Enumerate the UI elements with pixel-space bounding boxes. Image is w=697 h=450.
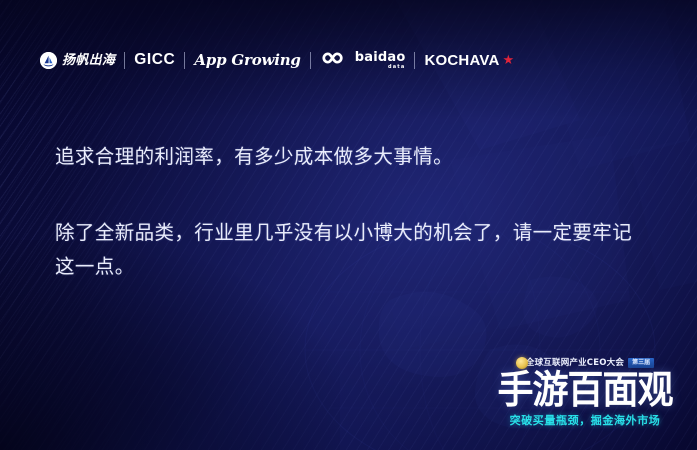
logo-app-growing-label: App Growing [194,53,300,68]
logo-gicc: GICC [134,47,175,73]
logo-divider [124,52,125,69]
watermark-edition-badge: 第三届 [628,358,654,368]
logo-divider [414,52,415,69]
logo-baidao-sublabel: data [388,65,406,70]
paragraph-2: 除了全新品类，行业里几乎没有以小博大的机会了，请一定要牢记这一点。 [55,216,635,284]
logo-divider [184,52,185,69]
watermark-event-title: 全球互联网产业CEO大会 [526,359,624,368]
slide-body-copy: 追求合理的利润率，有多少成本做多大事情。 除了全新品类，行业里几乎没有以小博大的… [55,140,635,284]
logo-kochava-label: KOCHAVA [424,53,499,68]
sponsor-logo-bar: 扬帆出海 GICC App Growing baidao data KOCHAV… [40,47,514,73]
watermark-tagline: 突破买量瓶颈，掘金海外市场 [485,415,685,426]
star-icon: ★ [503,53,515,66]
logo-kochava: KOCHAVA ★ [424,47,514,73]
logo-baidao: baidao data [320,47,406,73]
globe-dot-icon [516,357,528,369]
presentation-slide: 扬帆出海 GICC App Growing baidao data KOCHAV… [0,0,697,450]
logo-yangfan-label: 扬帆出海 [62,54,115,67]
watermark: 全球互联网产业CEO大会 第三届 手游百面观 突破买量瓶颈，掘金海外市场 [485,357,685,426]
paragraph-1: 追求合理的利润率，有多少成本做多大事情。 [55,140,635,174]
logo-yangfan-chuhai: 扬帆出海 [40,47,115,73]
logo-app-growing: App Growing [194,47,300,73]
sail-boat-circle-icon [40,52,57,69]
infinity-icon [320,51,350,70]
logo-gicc-label: GICC [134,52,175,68]
logo-divider [310,52,311,69]
watermark-event-line: 全球互联网产业CEO大会 第三届 [485,357,685,369]
watermark-brand: 手游百面观 [485,371,685,412]
logo-baidao-label: baidao [355,51,406,64]
